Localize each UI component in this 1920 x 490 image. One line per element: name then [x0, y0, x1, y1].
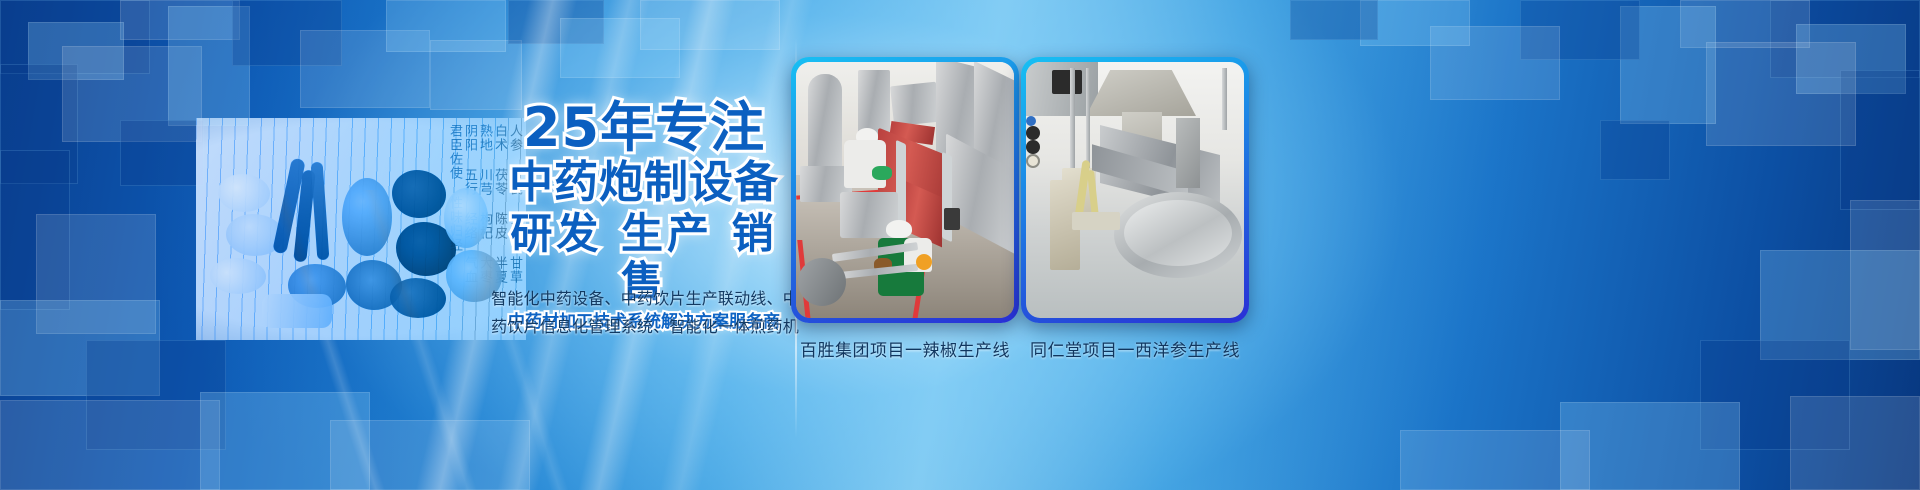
description-line-1: 智能化中药设备、中药饮片生产联动线、中 [470, 286, 820, 314]
photo-caption-ginseng: 同仁堂项目一西洋参生产线 [1021, 336, 1249, 361]
photo-card-chili[interactable]: 百胜集团项目一辣椒生产线 [791, 57, 1019, 323]
photo-caption-chili: 百胜集团项目一辣椒生产线 [791, 336, 1019, 361]
headline-line-2: 中药炮制设备 [494, 158, 794, 208]
headline-line-1: 25年专注 [494, 100, 794, 156]
promo-banner: 人参 黄芪 当归 甘草 白术 茯苓 陈皮 半夏 熟地 川芎 枸杞 大枣 阴阳 五… [0, 0, 1920, 490]
description-block: 智能化中药设备、中药饮片生产联动线、中 药饮片信息化管理系统、智能化一体煎药机 [470, 286, 820, 342]
description-line-2: 药饮片信息化管理系统、智能化一体煎药机 [470, 314, 820, 342]
photo-ginseng-production-line [1026, 62, 1244, 318]
photo-chili-production-line [796, 62, 1014, 318]
photo-card-ginseng[interactable]: 同仁堂项目一西洋参生产线 [1021, 57, 1249, 323]
